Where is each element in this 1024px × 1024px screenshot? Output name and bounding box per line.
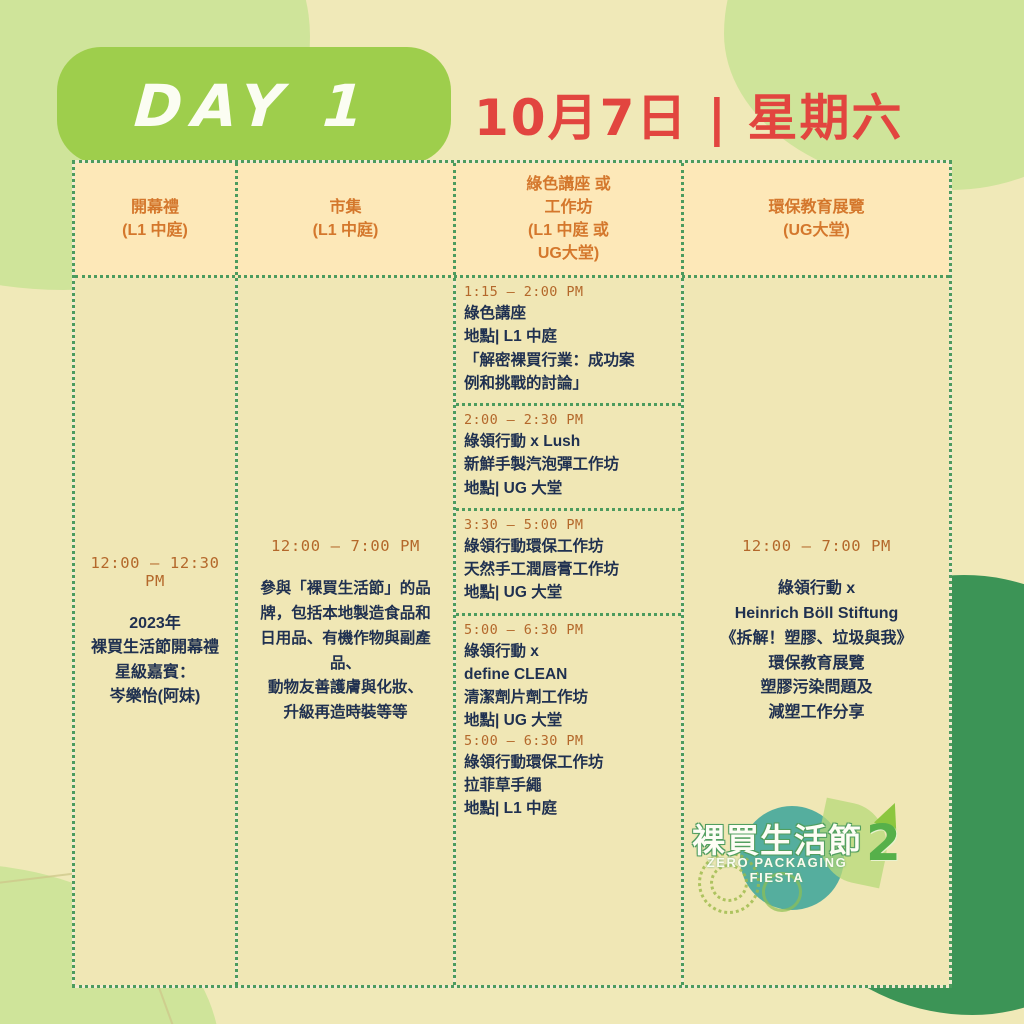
session-block: 1:15 – 2:00 PM 綠色講座 地點| L1 中庭 「解密裸買行業：成功… bbox=[456, 278, 681, 406]
text-line: 地點| UG 大堂 bbox=[464, 581, 675, 604]
session-time: 12:00 – 7:00 PM bbox=[246, 537, 445, 555]
session-time: 1:15 – 2:00 PM bbox=[464, 284, 675, 300]
header: DAY 1 10月7日 | 星期六 bbox=[0, 0, 1024, 160]
header-line: (L1 中庭 或 bbox=[526, 219, 610, 242]
text-line: 綠領行動 x Lush bbox=[464, 430, 675, 453]
text-line: 動物友善護膚與化妝、 bbox=[246, 676, 445, 701]
text-line: 綠領行動環保工作坊 bbox=[464, 535, 675, 558]
text-line: 「解密裸買行業：成功案 bbox=[464, 349, 675, 372]
session-description: 綠領行動 x Heinrich Böll Stiftung 《拆解！塑膠、垃圾與… bbox=[692, 577, 941, 726]
event-logo: 2 裸買生活節 ZERO PACKAGING FIESTA bbox=[688, 800, 910, 910]
session-time: 12:00 – 12:30 PM bbox=[83, 554, 227, 590]
text-line: 岑樂怡(阿妹) bbox=[83, 685, 227, 709]
text-line: 地點| L1 中庭 bbox=[464, 325, 675, 348]
session-description: 綠領行動 x Lush 新鮮手製汽泡彈工作坊 地點| UG 大堂 bbox=[464, 430, 675, 500]
cell-market: 12:00 – 7:00 PM 參與「裸買生活節」的品 牌，包括本地製造食品和 … bbox=[235, 278, 453, 985]
text-line: 牌，包括本地製造食品和 bbox=[246, 602, 445, 627]
column-spacer bbox=[456, 828, 681, 985]
session-block: 5:00 – 6:30 PM 綠領行動 x define CLEAN 清潔劑片劑… bbox=[456, 616, 681, 829]
column-header-green-talks-workshops: 綠色講座 或 工作坊 (L1 中庭 或 UG大堂) bbox=[453, 163, 681, 275]
logo-edition-number: 2 bbox=[866, 818, 901, 868]
header-line: 環保教育展覽 bbox=[768, 196, 864, 219]
logo-english-name: ZERO PACKAGING FIESTA bbox=[688, 855, 866, 885]
cell-green-talks-workshops: 1:15 – 2:00 PM 綠色講座 地點| L1 中庭 「解密裸買行業：成功… bbox=[453, 278, 681, 985]
text-line: define CLEAN bbox=[464, 663, 675, 686]
text-line: Heinrich Böll Stiftung bbox=[692, 602, 941, 627]
session-description: 綠領行動環保工作坊 天然手工潤唇膏工作坊 地點| UG 大堂 bbox=[464, 535, 675, 605]
session-time: 3:30 – 5:00 PM bbox=[464, 517, 675, 533]
text-line: 2023年 bbox=[83, 612, 227, 636]
session-description: 綠領行動 x define CLEAN 清潔劑片劑工作坊 地點| UG 大堂 bbox=[464, 640, 675, 733]
column-header-market: 市集 (L1 中庭) bbox=[235, 163, 453, 275]
text-line: 環保教育展覽 bbox=[692, 652, 941, 677]
session-description: 綠領行動環保工作坊 拉菲草手繩 地點| L1 中庭 bbox=[464, 751, 675, 821]
session-time: 5:00 – 6:30 PM bbox=[464, 622, 675, 638]
day-label: DAY 1 bbox=[53, 47, 455, 164]
cell-opening-ceremony: 12:00 – 12:30 PM 2023年 裸買生活節開幕禮 星級嘉賓： 岑樂… bbox=[75, 278, 235, 985]
text-line: 日用品、有機作物與副產 bbox=[246, 627, 445, 652]
text-line: 新鮮手製汽泡彈工作坊 bbox=[464, 453, 675, 476]
text-line: 綠領行動環保工作坊 bbox=[464, 751, 675, 774]
text-line: 地點| UG 大堂 bbox=[464, 709, 675, 732]
text-line: 塑膠污染問題及 bbox=[692, 676, 941, 701]
text-line: 拉菲草手繩 bbox=[464, 774, 675, 797]
session-time: 5:00 – 6:30 PM bbox=[464, 733, 675, 749]
header-line: 綠色講座 或 bbox=[526, 173, 610, 196]
session-description: 參與「裸買生活節」的品 牌，包括本地製造食品和 日用品、有機作物與副產 品、 動… bbox=[246, 577, 445, 726]
text-line: 例和挑戰的討論」 bbox=[464, 372, 675, 395]
date-label: 10月7日 | 星期六 bbox=[474, 78, 903, 150]
day-badge: DAY 1 bbox=[57, 47, 451, 164]
text-line: 裸買生活節開幕禮 bbox=[83, 636, 227, 660]
session-time: 2:00 – 2:30 PM bbox=[464, 412, 675, 428]
text-line: 綠色講座 bbox=[464, 302, 675, 325]
text-line: 天然手工潤唇膏工作坊 bbox=[464, 558, 675, 581]
session-description: 綠色講座 地點| L1 中庭 「解密裸買行業：成功案 例和挑戰的討論」 bbox=[464, 302, 675, 395]
text-line: 地點| UG 大堂 bbox=[464, 477, 675, 500]
header-line: (L1 中庭) bbox=[313, 219, 379, 242]
header-line: (UG大堂) bbox=[768, 219, 864, 242]
text-line: 升級再造時裝等等 bbox=[246, 701, 445, 726]
session-block: 3:30 – 5:00 PM 綠領行動環保工作坊 天然手工潤唇膏工作坊 地點| … bbox=[456, 511, 681, 616]
text-line: 減塑工作分享 bbox=[692, 701, 941, 726]
text-line: 綠領行動 x bbox=[692, 577, 941, 602]
column-header-opening-ceremony: 開幕禮 (L1 中庭) bbox=[75, 163, 235, 275]
session-time: 12:00 – 7:00 PM bbox=[692, 537, 941, 555]
text-line: 地點| L1 中庭 bbox=[464, 797, 675, 820]
text-line: 綠領行動 x bbox=[464, 640, 675, 663]
table-header-row: 開幕禮 (L1 中庭) 市集 (L1 中庭) 綠色講座 或 工作坊 (L1 中庭… bbox=[75, 163, 949, 278]
header-line: 工作坊 bbox=[526, 196, 610, 219]
text-line: 《拆解！塑膠、垃圾與我》 bbox=[692, 627, 941, 652]
header-line: 開幕禮 bbox=[122, 196, 188, 219]
header-line: 市集 bbox=[313, 196, 379, 219]
text-line: 清潔劑片劑工作坊 bbox=[464, 686, 675, 709]
session-block: 2:00 – 2:30 PM 綠領行動 x Lush 新鮮手製汽泡彈工作坊 地點… bbox=[456, 406, 681, 511]
session-description: 2023年 裸買生活節開幕禮 星級嘉賓： 岑樂怡(阿妹) bbox=[83, 612, 227, 709]
text-line: 品、 bbox=[246, 652, 445, 677]
header-line: (L1 中庭) bbox=[122, 219, 188, 242]
column-header-eco-education-exhibition: 環保教育展覽 (UG大堂) bbox=[681, 163, 949, 275]
text-line: 星級嘉賓： bbox=[83, 661, 227, 685]
header-line: UG大堂) bbox=[526, 242, 610, 265]
text-line: 參與「裸買生活節」的品 bbox=[246, 577, 445, 602]
